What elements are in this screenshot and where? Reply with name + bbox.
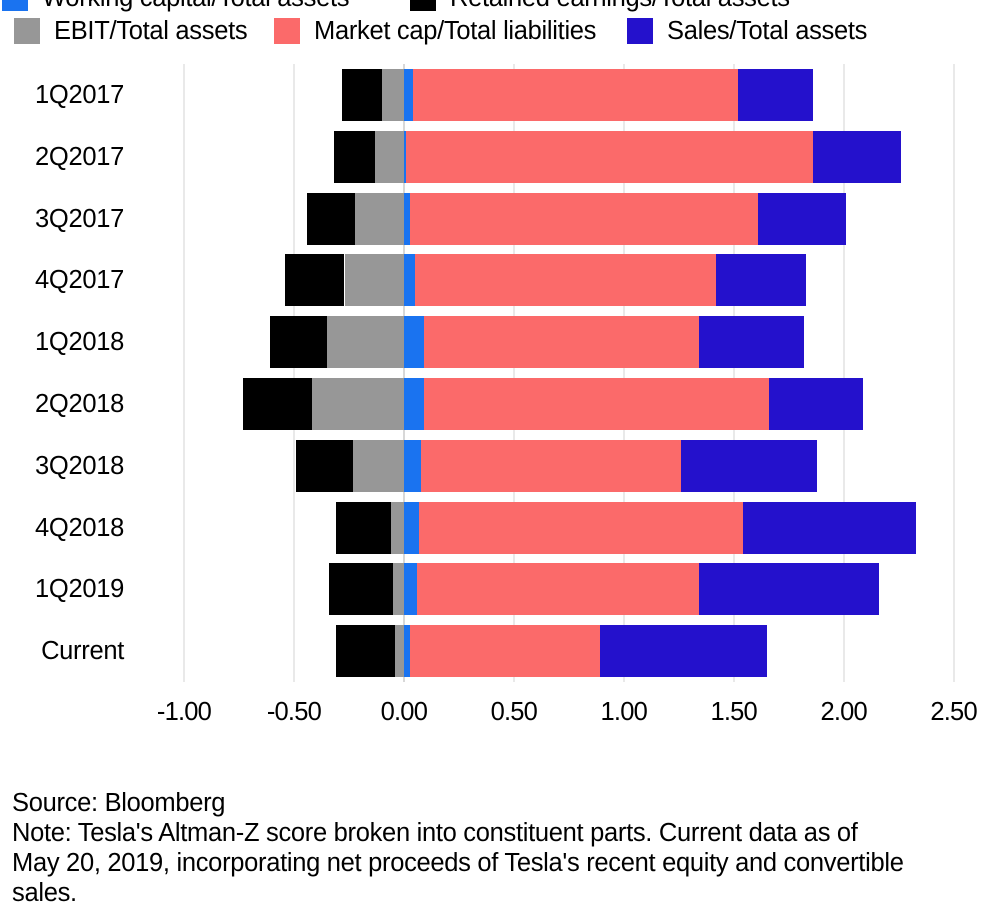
y-axis-label-1q2017: 1Q2017 — [0, 82, 124, 108]
bar-segment[interactable] — [421, 440, 680, 492]
bar-segment[interactable] — [404, 563, 417, 615]
legend-label-working-capital: Working capital/Total assets — [42, 0, 349, 11]
bar-row[interactable] — [129, 254, 1002, 306]
footnote-note-line-1: Note: Tesla's Altman-Z score broken into… — [12, 818, 997, 848]
bar-row[interactable] — [129, 502, 1002, 554]
bar-segment[interactable] — [738, 69, 813, 121]
bar-segment[interactable] — [424, 316, 699, 368]
legend-label-retained-earnings: Retained earnings/Total assets — [450, 0, 790, 11]
bar-segment[interactable] — [342, 69, 382, 121]
x-axis-tick--0.50: -0.50 — [267, 698, 321, 726]
bar-segment[interactable] — [758, 193, 846, 245]
bar-row[interactable] — [129, 440, 1002, 492]
bar-segment[interactable] — [404, 193, 411, 245]
bar-segment[interactable] — [296, 440, 353, 492]
y-axis-label-1q2019: 1Q2019 — [0, 576, 124, 602]
legend-item-retained-earnings: Retained earnings/Total assets — [410, 0, 790, 11]
bar-row[interactable] — [129, 69, 1002, 121]
footnote-note-line-3: sales. — [12, 878, 997, 908]
bar-row[interactable] — [129, 563, 1002, 615]
x-axis-tick-1.00: 1.00 — [601, 698, 647, 726]
bar-segment[interactable] — [404, 316, 424, 368]
y-axis-label-4q2017: 4Q2017 — [0, 267, 124, 293]
bar-segment[interactable] — [307, 193, 355, 245]
bar-segment[interactable] — [336, 625, 395, 677]
bar-segment[interactable] — [270, 316, 327, 368]
bar-segment[interactable] — [336, 502, 391, 554]
bar-segment[interactable] — [769, 378, 864, 430]
bar-segment[interactable] — [375, 131, 404, 183]
legend-item-ebit: EBIT/Total assets — [14, 18, 247, 44]
bar-row[interactable] — [129, 193, 1002, 245]
y-axis-category-labels: 1Q20172Q20173Q20174Q20171Q20182Q20183Q20… — [0, 64, 124, 682]
bar-segment[interactable] — [355, 193, 403, 245]
y-axis-label-1q2018: 1Q2018 — [0, 329, 124, 355]
x-axis-tick-0.00: 0.00 — [381, 698, 427, 726]
bar-segment[interactable] — [327, 316, 404, 368]
footnote-source: Source: Bloomberg — [12, 788, 997, 818]
bar-segment[interactable] — [395, 625, 404, 677]
bar-segment[interactable] — [404, 440, 422, 492]
bar-segment[interactable] — [404, 502, 419, 554]
x-axis-tick-1.50: 1.50 — [711, 698, 757, 726]
bar-segment[interactable] — [404, 69, 413, 121]
bar-segment[interactable] — [404, 378, 424, 430]
bar-segment[interactable] — [382, 69, 404, 121]
bar-segment[interactable] — [413, 69, 738, 121]
plot-area — [129, 64, 1002, 682]
legend-row-bottom: EBIT/Total assets Market cap/Total liabi… — [0, 15, 1002, 48]
bar-segment[interactable] — [417, 563, 698, 615]
legend-label-market-cap: Market cap/Total liabilities — [314, 18, 596, 44]
bar-segment[interactable] — [415, 254, 716, 306]
bar-row[interactable] — [129, 316, 1002, 368]
chart-footnote: Source: Bloomberg Note: Tesla's Altman-Z… — [12, 788, 997, 908]
bar-row[interactable] — [129, 378, 1002, 430]
legend-swatch-sales — [627, 18, 653, 44]
bar-segment[interactable] — [743, 502, 917, 554]
bar-segment[interactable] — [243, 378, 311, 430]
y-axis-label-current: Current — [0, 638, 124, 664]
x-axis-tick-0.50: 0.50 — [491, 698, 537, 726]
y-axis-label-3q2018: 3Q2018 — [0, 453, 124, 479]
y-axis-label-2q2018: 2Q2018 — [0, 391, 124, 417]
legend-item-working-capital: Working capital/Total assets — [2, 0, 349, 11]
bar-segment[interactable] — [424, 378, 769, 430]
bar-segment[interactable] — [813, 131, 901, 183]
bar-segment[interactable] — [404, 254, 415, 306]
x-axis-tick--1.00: -1.00 — [157, 698, 211, 726]
legend-swatch-ebit — [14, 18, 40, 44]
legend-row-top: Working capital/Total assets Retained ea… — [0, 0, 1002, 15]
bar-row[interactable] — [129, 131, 1002, 183]
x-axis-tick-2.50: 2.50 — [930, 698, 976, 726]
bar-segment[interactable] — [699, 563, 879, 615]
bar-segment[interactable] — [681, 440, 817, 492]
bar-row[interactable] — [129, 625, 1002, 677]
bar-segment[interactable] — [600, 625, 767, 677]
footnote-note-line-2: May 20, 2019, incorporating net proceeds… — [12, 848, 997, 878]
bar-segment[interactable] — [699, 316, 805, 368]
legend-item-sales: Sales/Total assets — [627, 18, 867, 44]
bar-segment[interactable] — [393, 563, 404, 615]
bar-segment[interactable] — [419, 502, 742, 554]
bar-segment[interactable] — [312, 378, 404, 430]
y-axis-label-4q2018: 4Q2018 — [0, 515, 124, 541]
legend-item-market-cap: Market cap/Total liabilities — [274, 18, 596, 44]
x-axis-tick-2.00: 2.00 — [820, 698, 866, 726]
bar-segment[interactable] — [329, 563, 393, 615]
legend-swatch-retained-earnings — [410, 0, 436, 11]
bar-segment[interactable] — [285, 254, 344, 306]
legend-label-ebit: EBIT/Total assets — [54, 18, 247, 44]
bar-segment[interactable] — [716, 254, 806, 306]
bar-segment[interactable] — [410, 625, 599, 677]
chart-legend: Working capital/Total assets Retained ea… — [0, 0, 1002, 48]
legend-swatch-market-cap — [274, 18, 300, 44]
x-axis: -1.00-0.500.000.501.001.502.002.50 — [129, 690, 1002, 736]
bar-segment[interactable] — [391, 502, 404, 554]
stacked-bar-chart: 1Q20172Q20173Q20174Q20171Q20182Q20183Q20… — [0, 52, 1002, 682]
bar-segment[interactable] — [410, 193, 757, 245]
bar-segment[interactable] — [404, 625, 411, 677]
y-axis-label-3q2017: 3Q2017 — [0, 206, 124, 232]
bar-segment[interactable] — [353, 440, 404, 492]
y-axis-label-2q2017: 2Q2017 — [0, 144, 124, 170]
legend-swatch-working-capital — [2, 0, 28, 11]
legend-label-sales: Sales/Total assets — [667, 18, 867, 44]
bar-segment[interactable] — [406, 131, 813, 183]
bar-segment[interactable] — [334, 131, 376, 183]
bar-segment[interactable] — [345, 254, 404, 306]
